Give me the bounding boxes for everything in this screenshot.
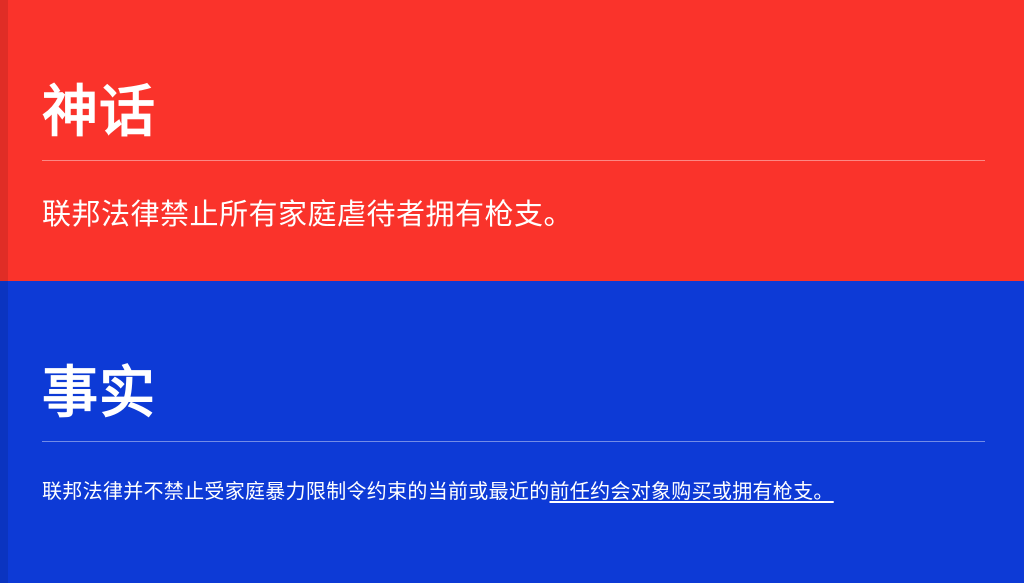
fact-body-source-link[interactable]: 前任约会对象购买或拥有枪支。 [550,481,834,503]
fact-divider-rule [42,441,985,442]
myth-body-text: 联邦法律禁止所有家庭虐待者拥有枪支。 [42,196,984,235]
myth-panel: 神话 联邦法律禁止所有家庭虐待者拥有枪支。 [0,0,1024,281]
myth-divider-rule [42,160,985,161]
fact-heading: 事实 [42,365,156,421]
fact-body-text: 联邦法律并不禁止受家庭暴力限制令约束的当前或最近的前任约会对象购买或拥有枪支。 [42,477,904,508]
left-edge-shade [0,0,8,281]
myth-heading: 神话 [42,84,156,140]
fact-body-plain-text: 联邦法律并不禁止受家庭暴力限制令约束的当前或最近的 [42,481,550,503]
myth-vs-fact-infographic: 神话 联邦法律禁止所有家庭虐待者拥有枪支。 事实 联邦法律并不禁止受家庭暴力限制… [0,0,1024,583]
fact-panel: 事实 联邦法律并不禁止受家庭暴力限制令约束的当前或最近的前任约会对象购买或拥有枪… [0,281,1024,583]
